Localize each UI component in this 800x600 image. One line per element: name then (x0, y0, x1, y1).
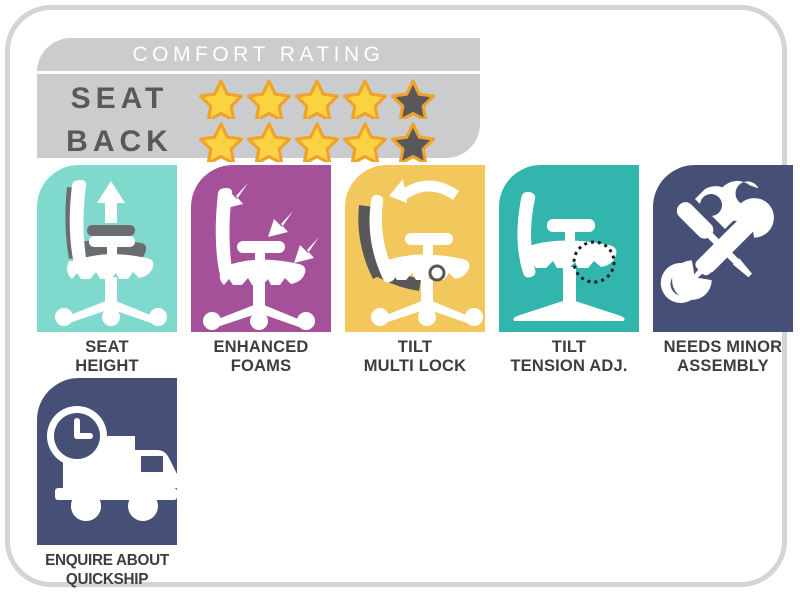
star-group-back (197, 121, 437, 163)
rating-divider (37, 71, 480, 74)
chair-tilt-tension-icon (499, 165, 639, 332)
rating-row-seat: SEAT (37, 78, 480, 120)
star-filled (341, 121, 389, 163)
star-empty (389, 121, 437, 163)
star-filled (197, 121, 245, 163)
comfort-rating-title: COMFORT RATING (37, 38, 480, 71)
feature-tile-label: NEEDS MINOR ASSEMBLY (653, 338, 793, 376)
star-filled (197, 78, 245, 120)
feature-tile-label: SEAT HEIGHT (37, 338, 177, 376)
feature-tile-tilt-tension-adj[interactable]: TILT TENSION ADJ. (499, 165, 639, 376)
rating-row-back: BACK (37, 121, 480, 163)
delivery-truck-clock-icon (37, 378, 177, 545)
star-group-seat (197, 78, 437, 120)
chair-seat-height-icon (37, 165, 177, 332)
comfort-rating-panel: COMFORT RATING SEAT BACK (37, 38, 480, 158)
feature-tile-label: ENHANCED FOAMS (191, 338, 331, 376)
feature-tile-tilt-multi-lock[interactable]: TILT MULTI LOCK (345, 165, 485, 376)
feature-tile-enhanced-foams[interactable]: ENHANCED FOAMS (191, 165, 331, 376)
rating-row-label-back: BACK (47, 121, 192, 163)
feature-tile-seat-height[interactable]: SEAT HEIGHT (37, 165, 177, 376)
feature-tile-label: TILT TENSION ADJ. (499, 338, 639, 376)
chair-tilt-multi-lock-icon (345, 165, 485, 332)
star-filled (293, 78, 341, 120)
feature-tile-label: ENQUIRE ABOUT QUICKSHIP (37, 551, 177, 589)
star-filled (245, 78, 293, 120)
product-feature-card: COMFORT RATING SEAT BACK (5, 5, 787, 587)
feature-tile-label: TILT MULTI LOCK (345, 338, 485, 376)
wrench-screwdriver-icon (653, 165, 793, 332)
rating-row-label-seat: SEAT (47, 78, 192, 120)
star-empty (389, 78, 437, 120)
star-filled (293, 121, 341, 163)
chair-enhanced-foams-icon (191, 165, 331, 332)
feature-tile-enquire-about-quickship[interactable]: ENQUIRE ABOUT QUICKSHIP (37, 378, 177, 589)
star-filled (245, 121, 293, 163)
star-filled (341, 78, 389, 120)
feature-tile-needs-minor-assembly[interactable]: NEEDS MINOR ASSEMBLY (653, 165, 793, 376)
